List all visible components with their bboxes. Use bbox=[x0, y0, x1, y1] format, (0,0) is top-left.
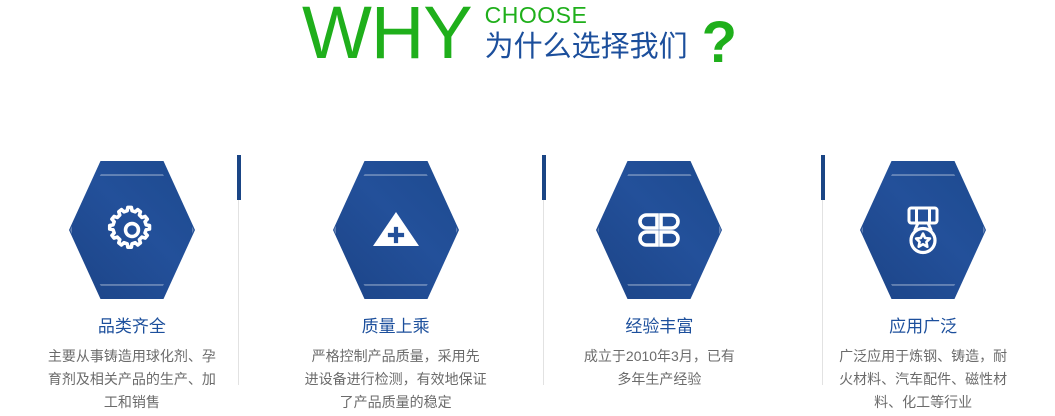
triangle-plus-icon bbox=[327, 167, 465, 293]
feature-card-2[interactable]: 质量上乘 严格控制产品质量，采用先 进设备进行检测，有效地保证 了产品质量的稳定 bbox=[264, 150, 528, 416]
feature-card-4[interactable]: 应用广泛 广泛应用于炼钢、铸造，耐 火材料、汽车配件、磁性材 料、化工等行业 bbox=[791, 150, 1055, 416]
headline-choose: CHOOSE bbox=[485, 3, 688, 28]
gear-icon bbox=[63, 167, 201, 293]
description-line: 成立于2010年3月，已有 bbox=[559, 345, 759, 368]
feature-card-3[interactable]: 经验丰富 成立于2010年3月，已有 多年生产经验 bbox=[528, 150, 792, 416]
feature-card-description: 严格控制产品质量，采用先 进设备进行检测，有效地保证 了产品质量的稳定 bbox=[296, 345, 496, 414]
headline-why: WHY bbox=[302, 0, 472, 70]
section-header: WHY CHOOSE 为什么选择我们 ? bbox=[0, 0, 1055, 90]
medal-icon bbox=[854, 167, 992, 293]
feature-card-description: 广泛应用于炼钢、铸造，耐 火材料、汽车配件、磁性材 料、化工等行业 bbox=[823, 345, 1023, 414]
description-line: 主要从事铸造用球化剂、孕 bbox=[32, 345, 232, 368]
divider-accent-segment bbox=[237, 155, 241, 200]
divider-accent-segment bbox=[542, 155, 546, 200]
description-line: 了产品质量的稳定 bbox=[296, 391, 496, 414]
hexagon-badge-4 bbox=[854, 167, 992, 293]
hexagon-badge-3 bbox=[590, 167, 728, 293]
divider-line-segment bbox=[543, 200, 544, 385]
description-line: 工和销售 bbox=[32, 391, 232, 414]
description-line: 料、化工等行业 bbox=[823, 391, 1023, 414]
headline-chinese-title: 为什么选择我们 bbox=[485, 31, 688, 64]
feature-card-description: 主要从事铸造用球化剂、孕 育剂及相关产品的生产、加 工和销售 bbox=[32, 345, 232, 414]
description-line: 多年生产经验 bbox=[559, 368, 759, 391]
header-inner: WHY CHOOSE 为什么选择我们 ? bbox=[302, 0, 737, 72]
divider-line-segment bbox=[822, 200, 823, 385]
divider-line-segment bbox=[238, 200, 239, 385]
why-choose-us-section: WHY CHOOSE 为什么选择我们 ? 品类齐全 bbox=[0, 0, 1055, 416]
card-divider-2 bbox=[542, 155, 546, 385]
feature-card-1[interactable]: 品类齐全 主要从事铸造用球化剂、孕 育剂及相关产品的生产、加 工和销售 bbox=[0, 150, 264, 416]
description-line: 育剂及相关产品的生产、加 bbox=[32, 368, 232, 391]
headline-middle-column: CHOOSE 为什么选择我们 bbox=[485, 3, 688, 64]
divider-accent-segment bbox=[821, 155, 825, 200]
card-divider-1 bbox=[237, 155, 241, 385]
hexagon-badge-2 bbox=[327, 167, 465, 293]
description-line: 火材料、汽车配件、磁性材 bbox=[823, 368, 1023, 391]
feature-card-title: 应用广泛 bbox=[889, 317, 957, 336]
headline-question-mark: ? bbox=[702, 14, 737, 72]
description-line: 严格控制产品质量，采用先 bbox=[296, 345, 496, 368]
card-divider-3 bbox=[821, 155, 825, 385]
four-petal-clover-icon bbox=[590, 167, 728, 293]
feature-card-description: 成立于2010年3月，已有 多年生产经验 bbox=[559, 345, 759, 391]
feature-card-title: 质量上乘 bbox=[362, 317, 430, 336]
feature-card-title: 经验丰富 bbox=[625, 317, 693, 336]
description-line: 进设备进行检测，有效地保证 bbox=[296, 368, 496, 391]
feature-card-title: 品类齐全 bbox=[98, 317, 166, 336]
hexagon-badge-1 bbox=[63, 167, 201, 293]
feature-cards-row: 品类齐全 主要从事铸造用球化剂、孕 育剂及相关产品的生产、加 工和销售 质量上乘 bbox=[0, 150, 1055, 416]
description-line: 广泛应用于炼钢、铸造，耐 bbox=[823, 345, 1023, 368]
